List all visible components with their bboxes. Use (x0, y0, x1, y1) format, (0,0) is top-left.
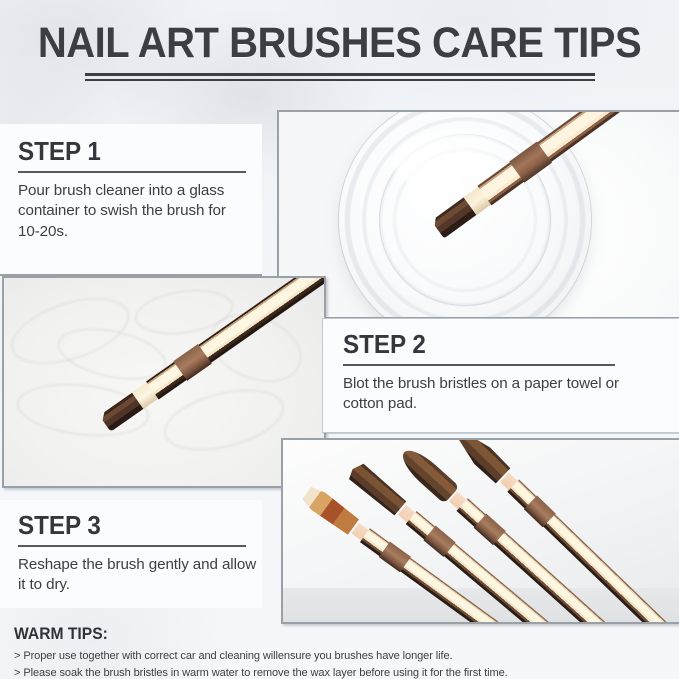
title-rule-top (85, 73, 595, 76)
step-3-text-card: STEP 3 Reshape the brush gently and allo… (0, 500, 262, 608)
step-3-photo (281, 438, 679, 624)
step-2-heading: STEP 2 (343, 331, 642, 357)
warm-tips-line: > Please soak the brush bristles in warm… (14, 665, 645, 679)
step-1-rule (18, 171, 246, 173)
warm-tips-line: > Proper use together with correct car a… (14, 648, 645, 665)
title-underline (85, 73, 595, 81)
title-rule-bottom (85, 79, 595, 81)
step-1-photo (277, 110, 679, 319)
infographic-poster: NAIL ART BRUSHES CARE TIPS STEP 1 Pour b… (0, 0, 679, 679)
warm-tips-section: WARM TIPS: > Proper use together with co… (14, 624, 664, 679)
step-2-photo (2, 276, 326, 488)
step-3-heading: STEP 3 (18, 512, 230, 538)
step-1-text-card: STEP 1 Pour brush cleaner into a glass c… (0, 124, 262, 275)
step-3-body: Reshape the brush gently and allow it to… (18, 555, 258, 596)
step-2-body: Blot the brush bristles on a paper towel… (343, 374, 643, 415)
step-2-text-card: STEP 2 Blot the brush bristles on a pape… (322, 318, 679, 433)
step-3-rule (18, 545, 246, 547)
step-1-heading: STEP 1 (18, 138, 230, 164)
page-title: NAIL ART BRUSHES CARE TIPS (24, 22, 655, 66)
step-2-rule (343, 364, 615, 366)
step-1-body: Pour brush cleaner into a glass containe… (18, 181, 250, 242)
warm-tips-heading: WARM TIPS: (14, 624, 612, 644)
poster-header: NAIL ART BRUSHES CARE TIPS (0, 22, 679, 81)
